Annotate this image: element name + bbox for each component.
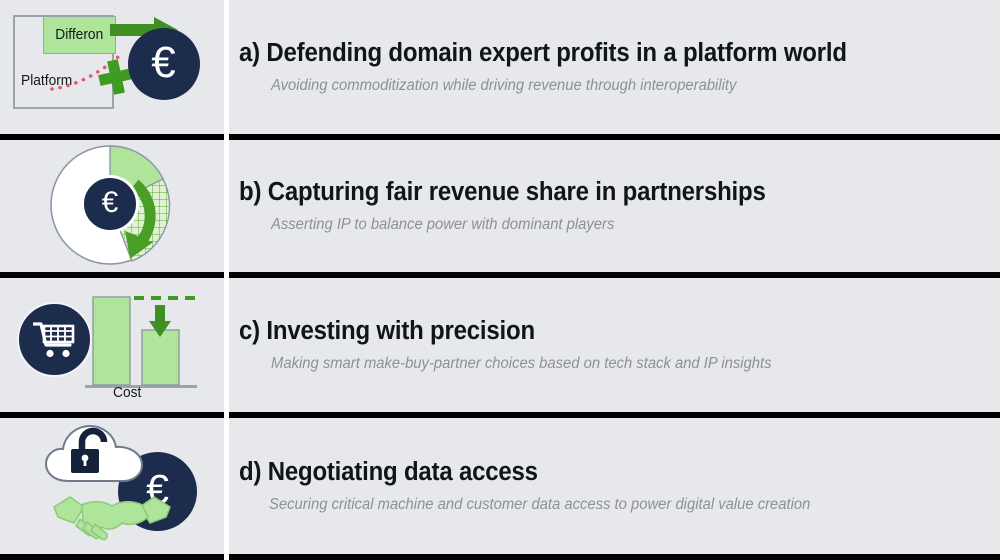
text-cell-c: c) Investing with precision Making smart… bbox=[224, 278, 1000, 412]
row-c: Cost c) Investing bbox=[0, 278, 1000, 412]
headline-a: a) Defending domain expert profits in a … bbox=[239, 39, 937, 68]
bottom-divider bbox=[0, 554, 1000, 560]
shopping-cart-circle bbox=[17, 302, 92, 377]
revenue-share-pie-chart: € bbox=[47, 143, 177, 269]
euro-coin: € bbox=[81, 175, 139, 233]
text-cell-d: d) Negotiating data access Securing crit… bbox=[224, 419, 1000, 554]
euro-symbol: € bbox=[151, 41, 175, 85]
data-access-cloud-handshake: € bbox=[12, 423, 212, 551]
subline-b: Asserting IP to balance power with domin… bbox=[271, 216, 950, 235]
cost-axis-label: Cost bbox=[113, 385, 141, 401]
headline-b: b) Capturing fair revenue share in partn… bbox=[239, 178, 937, 207]
icon-cell-b: € bbox=[0, 140, 224, 272]
euro-symbol: € bbox=[102, 188, 119, 218]
headline-d: d) Negotiating data access bbox=[239, 458, 937, 487]
subline-d: Securing critical machine and customer d… bbox=[269, 496, 950, 515]
row-divider-1 bbox=[0, 134, 1000, 140]
icon-cell-a: Platform Differon € bbox=[0, 0, 224, 134]
icon-cell-c: Cost bbox=[0, 278, 224, 412]
row-d: € bbox=[0, 419, 1000, 554]
handshake-icon bbox=[52, 491, 172, 543]
row-a: Platform Differon € bbox=[0, 0, 1000, 134]
row-divider-2 bbox=[0, 272, 1000, 278]
cloud-icon bbox=[44, 423, 146, 485]
differon-label: Differon bbox=[55, 27, 103, 43]
subline-c: Making smart make-buy-partner choices ba… bbox=[271, 355, 950, 374]
column-separator bbox=[224, 0, 229, 560]
euro-coin: € bbox=[128, 28, 200, 100]
cost-reduction-bar-chart: Cost bbox=[17, 284, 207, 406]
icon-cell-d: € bbox=[0, 419, 224, 554]
row-divider-3 bbox=[0, 412, 1000, 418]
bar-chart-icon bbox=[85, 286, 203, 392]
text-cell-a: a) Defending domain expert profits in a … bbox=[224, 0, 1000, 134]
platform-differon-euro-diagram: Platform Differon € bbox=[10, 11, 215, 123]
shopping-cart-icon bbox=[33, 320, 77, 360]
slide-board: Platform Differon € bbox=[0, 0, 1000, 560]
headline-c: c) Investing with precision bbox=[239, 317, 937, 346]
text-cell-b: b) Capturing fair revenue share in partn… bbox=[224, 140, 1000, 272]
row-b: € b) Capturing fair revenue share in par… bbox=[0, 140, 1000, 272]
subline-a: Avoiding commoditization while driving r… bbox=[271, 77, 950, 96]
